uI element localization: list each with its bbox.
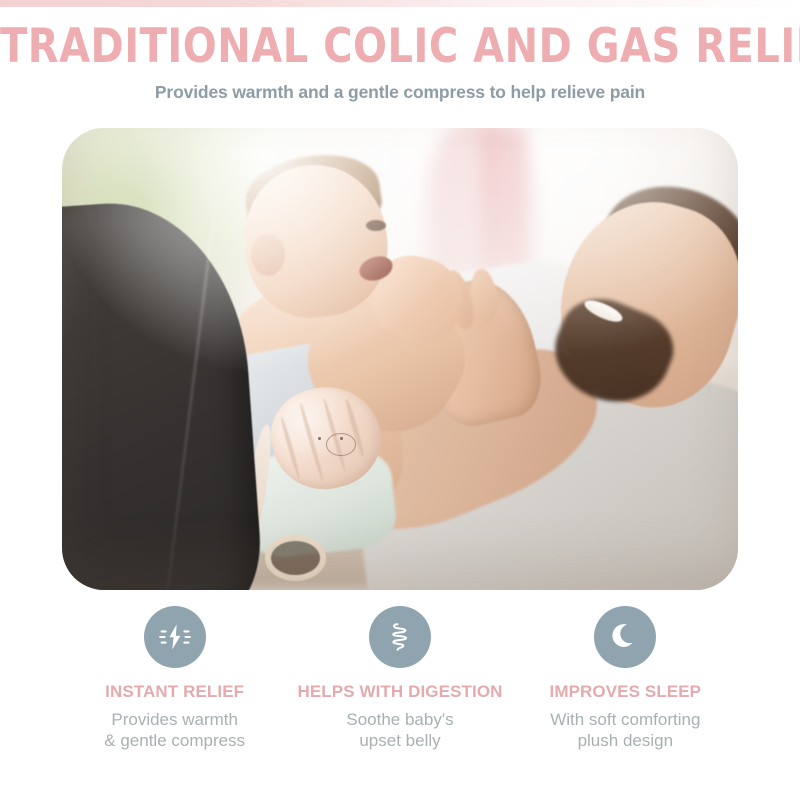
feature-title: HELPS WITH DIGESTION [287, 682, 512, 702]
feature-title: INSTANT RELIEF [62, 682, 287, 702]
feature-list: INSTANT RELIEF Provides warmth & gentle … [62, 606, 738, 752]
photo-plush-face [326, 433, 356, 456]
feature-icon-badge [369, 606, 431, 668]
feature-description: With soft comforting plush design [513, 709, 738, 752]
feature-description: Soothe baby's upset belly [287, 709, 512, 752]
page-title: TRADITIONAL COLIC AND GAS RELIEF [0, 22, 800, 73]
top-accent-band [0, 0, 800, 7]
intestine-icon [383, 620, 417, 654]
page-subtitle: Provides warmth and a gentle compress to… [0, 82, 800, 103]
feature-improves-sleep: IMPROVES SLEEP With soft comforting plus… [513, 606, 738, 752]
lightning-bolt-icon [158, 620, 192, 654]
feature-title: IMPROVES SLEEP [513, 682, 738, 702]
header: TRADITIONAL COLIC AND GAS RELIEF Provide… [0, 0, 800, 103]
crescent-moon-icon [608, 620, 642, 654]
feature-helps-with-digestion: HELPS WITH DIGESTION Soothe baby's upset… [287, 606, 512, 752]
feature-instant-relief: INSTANT RELIEF Provides warmth & gentle … [62, 606, 287, 752]
hero-photo [62, 128, 738, 590]
feature-description: Provides warmth & gentle compress [62, 709, 287, 752]
feature-icon-badge [594, 606, 656, 668]
photo-wooden-ring [265, 535, 326, 581]
photo-baby-ear [251, 234, 285, 276]
feature-icon-badge [144, 606, 206, 668]
